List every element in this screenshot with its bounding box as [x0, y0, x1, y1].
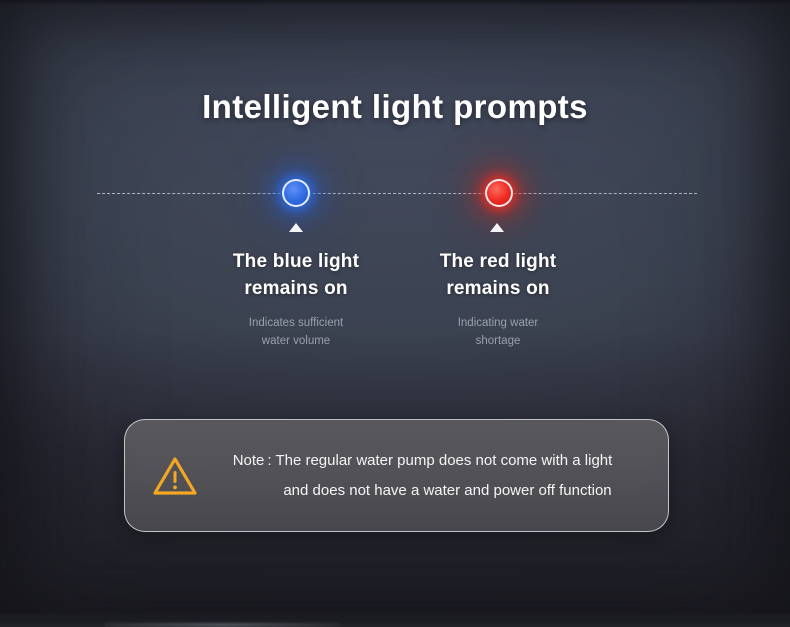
triangle-up-icon-blue [289, 223, 303, 232]
red-light-subtitle-line1: Indicating water [383, 314, 613, 332]
note-text-line2: and does not have a water and power off … [207, 476, 638, 506]
blue-light-subtitle-line2: water volume [181, 332, 411, 350]
red-light-title-line2: remains on [383, 275, 613, 302]
promo-banner: Intelligent light prompts The blue light… [0, 0, 790, 627]
red-light-indicator [485, 179, 513, 207]
red-light-subtitle-line2: shortage [383, 332, 613, 350]
blue-light-title: The blue light remains on [181, 248, 411, 302]
note-text: Note : The regular water pump does not c… [207, 446, 668, 506]
red-light-caption-column: The red light remains on Indicating wate… [383, 248, 613, 350]
blue-light-title-line1: The blue light [181, 248, 411, 275]
red-light-title: The red light remains on [383, 248, 613, 302]
blue-light-indicator [282, 179, 310, 207]
triangle-up-icon-red [490, 223, 504, 232]
blue-light-subtitle-line1: Indicates sufficient [181, 314, 411, 332]
red-light-title-line1: The red light [383, 248, 613, 275]
warning-triangle-icon [143, 455, 207, 497]
note-box: Note : The regular water pump does not c… [124, 419, 669, 532]
page-title: Intelligent light prompts [0, 88, 790, 126]
note-text-line1: Note : The regular water pump does not c… [207, 446, 638, 476]
dashed-timeline-line [97, 193, 697, 194]
blue-light-subtitle: Indicates sufficient water volume [181, 314, 411, 350]
background-top-edge [0, 0, 790, 5]
next-section-sliver [0, 613, 790, 627]
blue-light-title-line2: remains on [181, 275, 411, 302]
blue-light-caption-column: The blue light remains on Indicates suff… [181, 248, 411, 350]
red-light-subtitle: Indicating water shortage [383, 314, 613, 350]
